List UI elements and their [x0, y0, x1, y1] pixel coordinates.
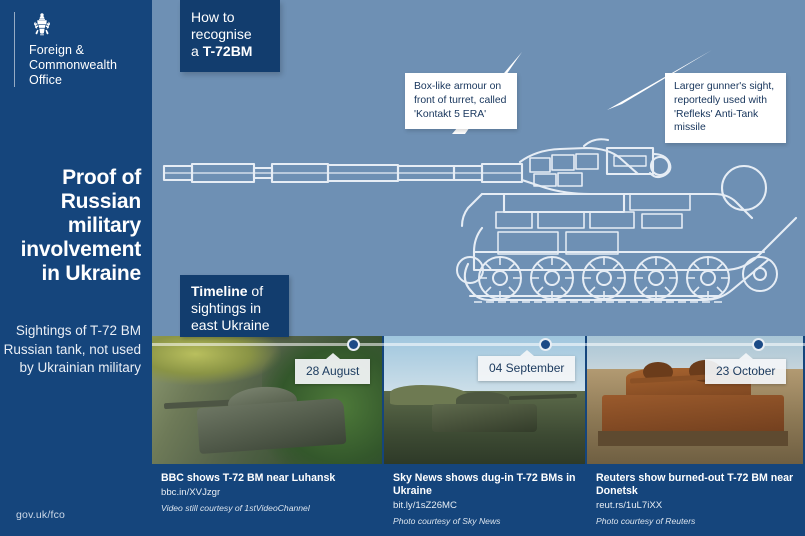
caption-3-title: Reuters show burned-out T-72 BM near Don… — [596, 472, 795, 498]
timeline-heading-line-3: east Ukraine — [191, 317, 280, 334]
caption-2-title: Sky News shows dug-in T-72 BMs in Ukrain… — [393, 472, 577, 498]
callout-kontakt5: Box-like armour on front of turret, call… — [405, 73, 517, 129]
left-brand-column: Foreign & Commonwealth Office Proof of R… — [0, 0, 152, 536]
footer-url: gov.uk/fco — [16, 509, 65, 521]
timeline-marker-3[interactable] — [752, 338, 765, 351]
timeline-heading-line-1: Timeline of — [191, 283, 280, 300]
caption-3-url[interactable]: reut.rs/1uL7iXX — [596, 500, 795, 511]
timeline-marker-1[interactable] — [347, 338, 360, 351]
photo-reuters-donetsk — [587, 336, 805, 464]
timeline-rail — [152, 343, 805, 346]
timeline-heading-line-2: sightings in — [191, 300, 280, 317]
timeline-heading-bold: Timeline — [191, 283, 248, 299]
timeline-heading-rest: of — [248, 283, 264, 299]
timeline-heading: Timeline of sightings in east Ukraine — [180, 275, 289, 337]
caption-1-title: BBC shows T-72 BM near Luhansk — [161, 472, 374, 485]
infographic-root: Foreign & Commonwealth Office Proof of R… — [0, 0, 805, 536]
caption-2: Sky News shows dug-in T-72 BMs in Ukrain… — [384, 464, 587, 526]
timeline-date-1: 28 August — [295, 359, 370, 384]
caption-1-credit: Video still courtesy of 1stVideoChannel — [161, 503, 374, 513]
fco-name-line-3: Office — [29, 73, 138, 88]
main-stage: How to recognise a T-72BM — [152, 0, 805, 536]
caption-2-credit: Photo courtesy of Sky News — [393, 516, 577, 526]
page-title: Proof of Russian military involvement in… — [1, 166, 141, 286]
callout-kontakt5-text: Box-like armour on front of turret, call… — [414, 81, 506, 120]
caption-1-url[interactable]: bbc.in/XVJzgr — [161, 487, 374, 498]
fco-name-line-1: Foreign & — [29, 43, 138, 58]
callout-gunner-sight-text: Larger gunner's sight, reportedly used w… — [674, 81, 774, 133]
royal-crest-icon — [29, 12, 55, 38]
timeline-date-3: 23 October — [705, 359, 786, 384]
caption-3-credit: Photo courtesy of Reuters — [596, 516, 795, 526]
photo-bbc-luhansk — [152, 336, 384, 464]
timeline-marker-2[interactable] — [539, 338, 552, 351]
fco-logo: Foreign & Commonwealth Office — [14, 12, 138, 87]
timeline-date-2: 04 September — [478, 356, 575, 381]
caption-2-url[interactable]: bit.ly/1sZ26MC — [393, 500, 577, 511]
caption-1: BBC shows T-72 BM near Luhansk bbc.in/XV… — [152, 464, 384, 513]
caption-3: Reuters show burned-out T-72 BM near Don… — [587, 464, 805, 526]
fco-name: Foreign & Commonwealth Office — [29, 43, 138, 87]
page-subtitle: Sightings of T-72 BM Russian tank, not u… — [0, 322, 141, 378]
callout-gunner-sight: Larger gunner's sight, reportedly used w… — [665, 73, 786, 143]
fco-name-line-2: Commonwealth — [29, 58, 138, 73]
